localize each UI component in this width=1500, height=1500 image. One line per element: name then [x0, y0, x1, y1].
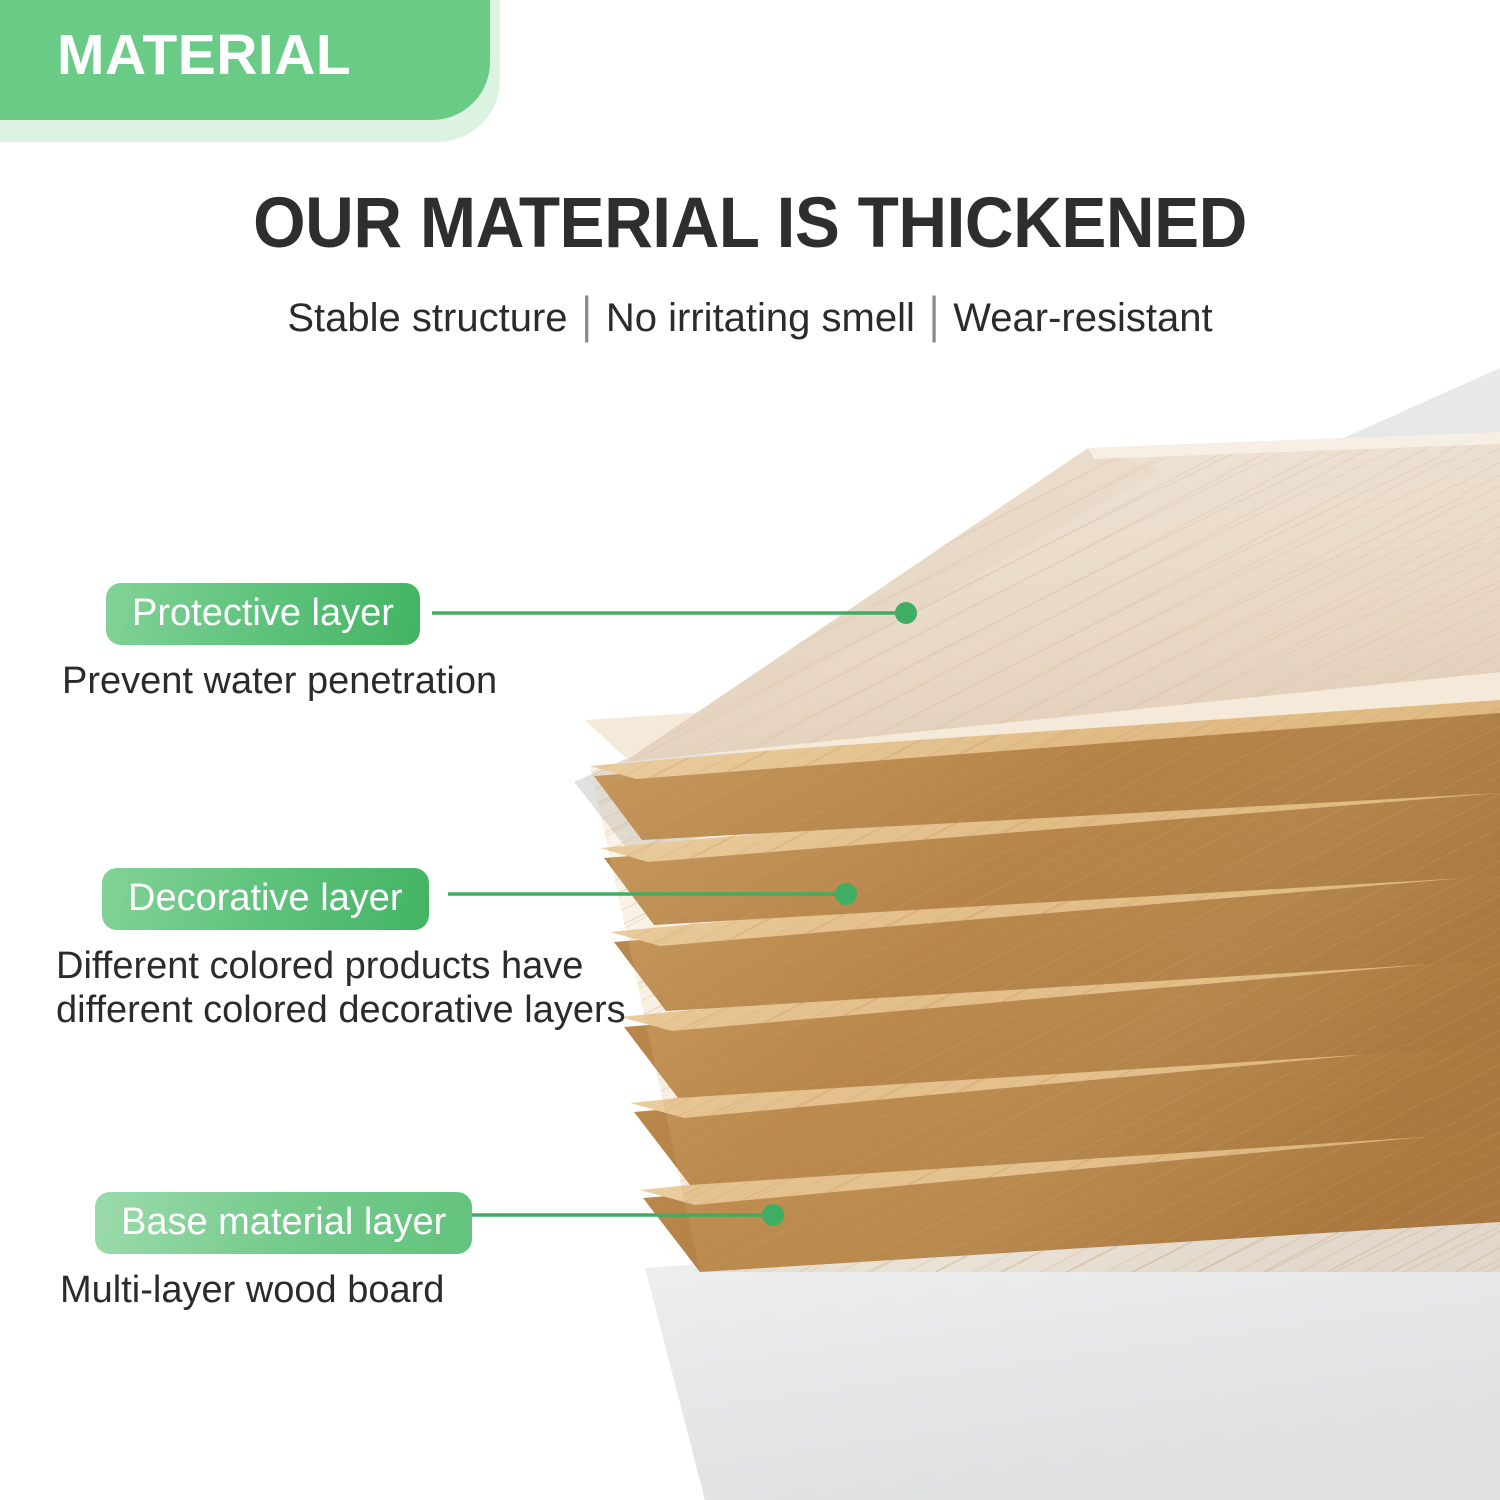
- infographic-page: MATERIAL OUR MATERIAL IS THICKENED Stabl…: [0, 0, 1500, 1500]
- callout-label-decorative-layer[interactable]: Decorative layer: [102, 868, 429, 930]
- callout-description-protective-layer: Prevent water penetration: [62, 659, 497, 703]
- callout-label-base-material-layer[interactable]: Base material layer: [95, 1192, 472, 1254]
- callout-description-base-material-layer: Multi-layer wood board: [60, 1268, 472, 1312]
- callout-base-material-layer: Base material layer Multi-layer wood boa…: [95, 1192, 472, 1312]
- callout-description-decorative-layer: Different colored products have differen…: [56, 944, 626, 1032]
- callout-decorative-layer: Decorative layer Different colored produ…: [102, 868, 626, 1032]
- core-plywood-stack: [590, 688, 1500, 1272]
- callout-protective-layer: Protective layer Prevent water penetrati…: [106, 583, 497, 703]
- callout-label-protective-layer[interactable]: Protective layer: [106, 583, 420, 645]
